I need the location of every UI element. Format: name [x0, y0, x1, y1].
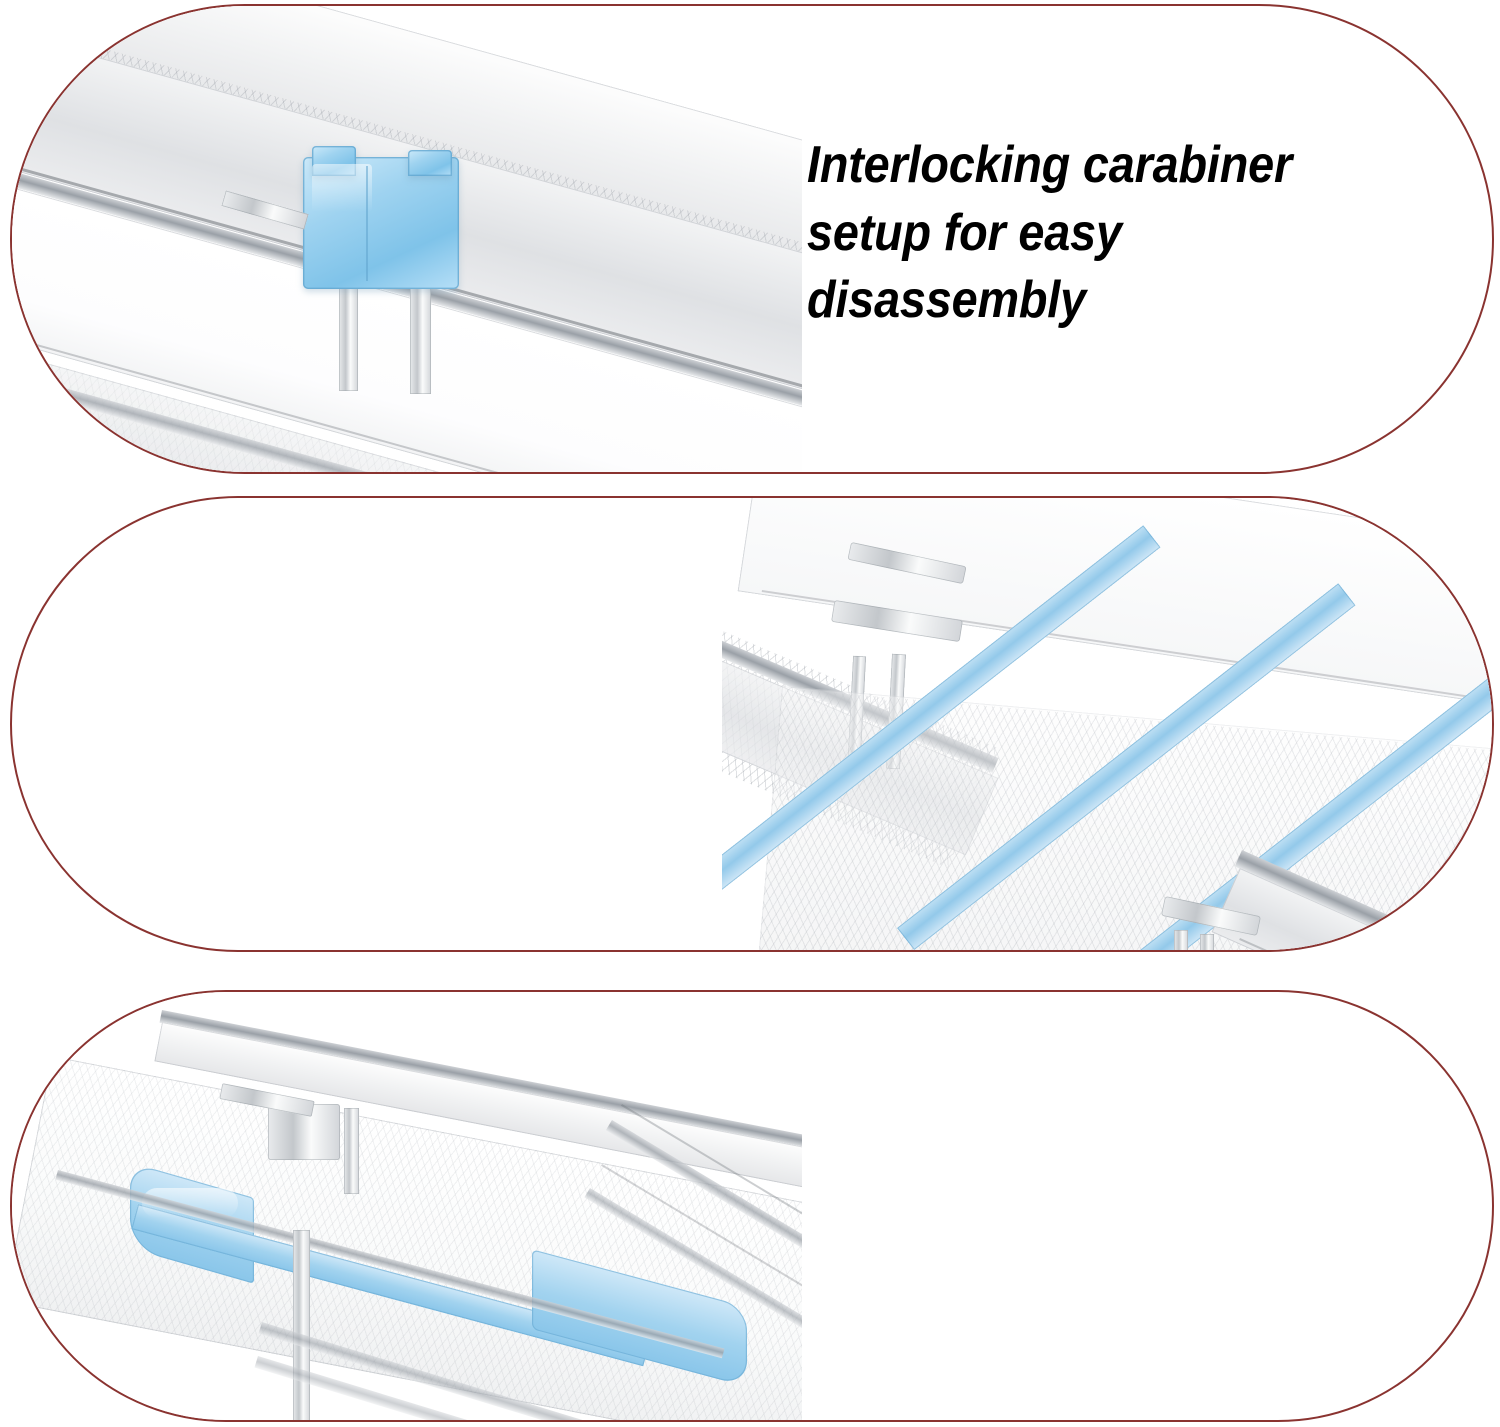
- product-photo-scene-1: [12, 6, 802, 472]
- shelf-latch-arm: [344, 1108, 359, 1194]
- product-photo-scene-3: [12, 992, 802, 1420]
- feature-photo-carabiner: [12, 6, 802, 472]
- feature-photo-open-mouth: [12, 992, 802, 1420]
- front-rail-post-b: [1200, 934, 1214, 950]
- feature-panel-1: Interlocking carabiner setup for easy di…: [10, 4, 1494, 474]
- product-photo-scene-2: [722, 498, 1492, 950]
- vertical-support-rod: [293, 1230, 310, 1420]
- front-rail-post-a: [1174, 930, 1188, 950]
- clip-inner-seam: [366, 166, 368, 281]
- tray-floor: [756, 686, 1492, 950]
- feature-photo-glide: [722, 498, 1492, 950]
- feature-panel-3: Open mouth design, items are not easy to…: [10, 990, 1494, 1422]
- blue-carabiner-clip-tab-right: [408, 150, 452, 176]
- clip-highlight: [312, 164, 372, 212]
- feature-panel-2: Smooth glide for easy access: [10, 496, 1494, 952]
- feature-caption-1: Interlocking carabiner setup for easy di…: [807, 132, 1401, 335]
